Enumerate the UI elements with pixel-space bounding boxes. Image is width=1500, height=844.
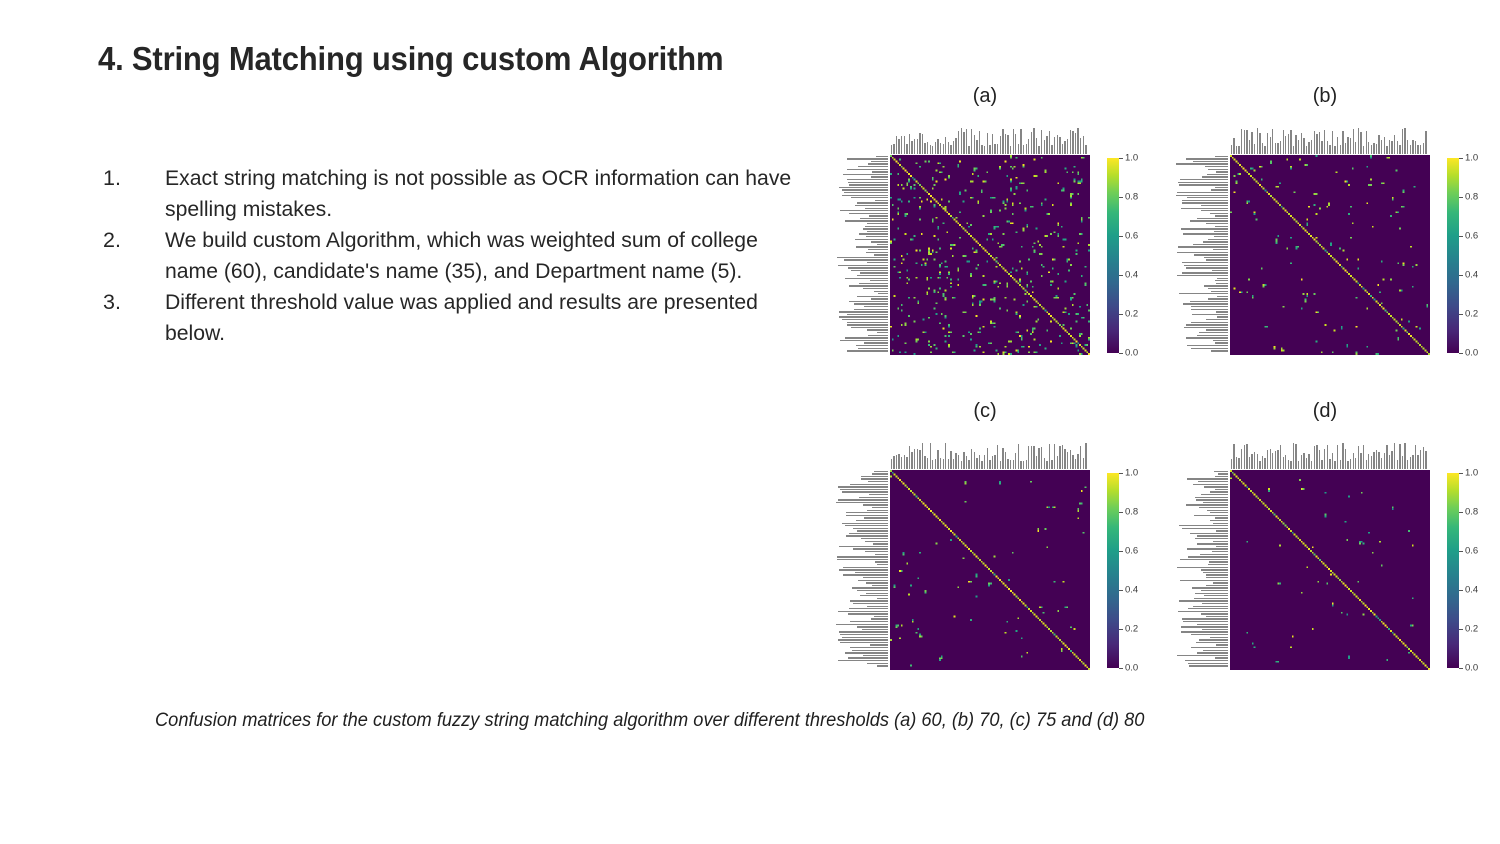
- x-axis-ticklabels: [1230, 442, 1430, 469]
- colorbar-tick: [1119, 197, 1123, 198]
- colorbar-tick-label: 0.0: [1465, 348, 1478, 359]
- colorbar-tick-label: 0.2: [1465, 624, 1478, 635]
- colorbar-gradient: [1107, 158, 1119, 353]
- panel-label-a: (a): [955, 85, 1015, 108]
- colorbar-tick: [1459, 353, 1463, 354]
- list-item-text: Different threshold value was applied an…: [165, 287, 803, 348]
- confusion-matrix-a: [890, 155, 1090, 355]
- colorbar-tick-label: 0.8: [1125, 192, 1138, 203]
- colorbar-tick-label: 1.0: [1125, 468, 1138, 479]
- list-item-number: 3.: [103, 287, 165, 318]
- colorbar-tick-label: 0.6: [1465, 231, 1478, 242]
- colorbar-tick-label: 0.8: [1465, 507, 1478, 518]
- colorbar-tick-label: 0.4: [1465, 270, 1478, 281]
- colorbar-tick: [1119, 314, 1123, 315]
- colorbar-c: 1.00.80.60.40.20.0: [1107, 473, 1119, 668]
- colorbar-tick: [1459, 236, 1463, 237]
- figure-panel-c: (c) 1.00.80.60.40.20.0: [830, 400, 1160, 695]
- colorbar-tick: [1119, 629, 1123, 630]
- colorbar-gradient: [1447, 158, 1459, 353]
- colorbar-d: 1.00.80.60.40.20.0: [1447, 473, 1459, 668]
- list-item-text: We build custom Algorithm, which was wei…: [165, 225, 803, 286]
- y-axis-ticklabels: [830, 470, 888, 670]
- confusion-matrix-b: [1230, 155, 1430, 355]
- colorbar-tick: [1459, 590, 1463, 591]
- colorbar-tick: [1459, 473, 1463, 474]
- colorbar-tick-label: 1.0: [1125, 153, 1138, 164]
- colorbar-tick: [1459, 158, 1463, 159]
- bullet-list: 1. Exact string matching is not possible…: [103, 163, 813, 349]
- colorbar-tick: [1459, 197, 1463, 198]
- colorbar-tick-label: 0.6: [1465, 546, 1478, 557]
- page-title: 4. String Matching using custom Algorith…: [98, 40, 723, 78]
- colorbar-tick-label: 0.0: [1125, 348, 1138, 359]
- y-axis-ticklabels: [1170, 155, 1228, 355]
- list-item-text: Exact string matching is not possible as…: [165, 163, 803, 224]
- colorbar-b: 1.00.80.60.40.20.0: [1447, 158, 1459, 353]
- colorbar-tick: [1459, 629, 1463, 630]
- colorbar-tick: [1459, 275, 1463, 276]
- figure-caption: Confusion matrices for the custom fuzzy …: [155, 710, 1144, 732]
- panel-label-c: (c): [955, 400, 1015, 423]
- colorbar-tick-label: 0.6: [1125, 546, 1138, 557]
- panel-label-b: (b): [1295, 85, 1355, 108]
- list-item: 3. Different threshold value was applied…: [103, 287, 813, 348]
- colorbar-tick: [1459, 551, 1463, 552]
- list-item: 1. Exact string matching is not possible…: [103, 163, 813, 224]
- colorbar-tick-label: 0.0: [1125, 663, 1138, 674]
- colorbar-tick-label: 0.8: [1465, 192, 1478, 203]
- colorbar-tick-label: 0.2: [1465, 309, 1478, 320]
- colorbar-gradient: [1447, 473, 1459, 668]
- x-axis-ticklabels: [1230, 127, 1430, 154]
- colorbar-tick: [1119, 353, 1123, 354]
- colorbar-tick: [1459, 668, 1463, 669]
- colorbar-tick: [1119, 473, 1123, 474]
- colorbar-tick-label: 0.2: [1125, 309, 1138, 320]
- figure-panel-b: (b) 1.00.80.60.40.20.0: [1170, 85, 1500, 380]
- y-axis-ticklabels: [830, 155, 888, 355]
- colorbar-tick: [1119, 551, 1123, 552]
- colorbar-tick: [1119, 158, 1123, 159]
- colorbar-tick: [1119, 512, 1123, 513]
- colorbar-gradient: [1107, 473, 1119, 668]
- colorbar-tick-label: 0.4: [1125, 270, 1138, 281]
- x-axis-ticklabels: [890, 127, 1090, 154]
- colorbar-tick: [1119, 236, 1123, 237]
- list-item-number: 1.: [103, 163, 165, 194]
- colorbar-tick: [1459, 512, 1463, 513]
- panel-label-d: (d): [1295, 400, 1355, 423]
- list-item-number: 2.: [103, 225, 165, 256]
- x-axis-ticklabels: [890, 442, 1090, 469]
- colorbar-a: 1.00.80.60.40.20.0: [1107, 158, 1119, 353]
- confusion-matrix-d: [1230, 470, 1430, 670]
- colorbar-tick-label: 0.4: [1125, 585, 1138, 596]
- colorbar-tick: [1459, 314, 1463, 315]
- colorbar-tick: [1119, 275, 1123, 276]
- list-item: 2. We build custom Algorithm, which was …: [103, 225, 813, 286]
- colorbar-tick-label: 0.4: [1465, 585, 1478, 596]
- colorbar-tick-label: 0.2: [1125, 624, 1138, 635]
- colorbar-tick: [1119, 590, 1123, 591]
- colorbar-tick-label: 0.0: [1465, 663, 1478, 674]
- colorbar-tick-label: 0.8: [1125, 507, 1138, 518]
- colorbar-tick: [1119, 668, 1123, 669]
- colorbar-tick-label: 1.0: [1465, 153, 1478, 164]
- colorbar-tick-label: 0.6: [1125, 231, 1138, 242]
- y-axis-ticklabels: [1170, 470, 1228, 670]
- colorbar-tick-label: 1.0: [1465, 468, 1478, 479]
- confusion-matrix-c: [890, 470, 1090, 670]
- figure-panel-a: (a) 1.00.80.60.40.20.0: [830, 85, 1160, 380]
- figure-panel-d: (d) 1.00.80.60.40.20.0: [1170, 400, 1500, 695]
